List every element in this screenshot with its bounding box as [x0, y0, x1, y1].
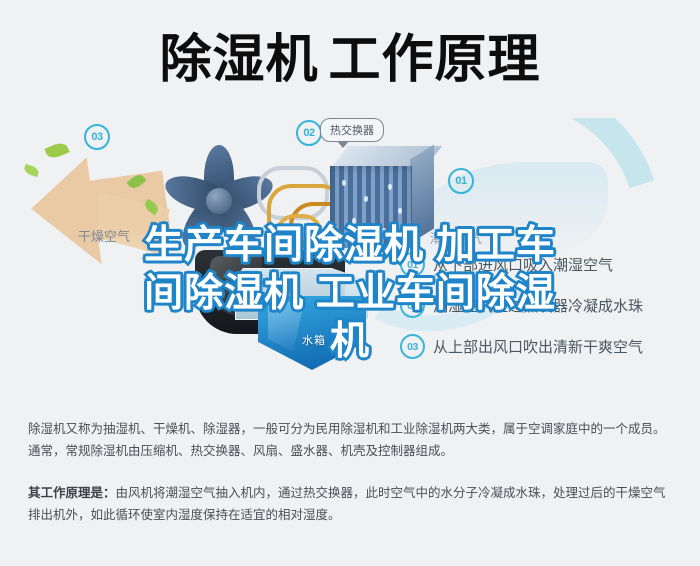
- legend-list: 01 从下部进风口吸入潮湿空气 02 潮湿空气经过蒸发器冷凝成水珠 03 从上部…: [400, 252, 690, 375]
- heat-exchanger-fins: [330, 166, 412, 248]
- heat-exchanger-icon: [330, 146, 438, 254]
- paragraph-1-line-1: 除湿机又称为抽湿机、干燥机、除湿器，一般可分为民用除湿机和工业除湿机两大类，属于…: [28, 422, 666, 436]
- heat-exchanger-callout: 热交换器: [320, 118, 384, 142]
- water-drop-icon: [342, 180, 346, 186]
- water-drop-icon: [352, 218, 356, 224]
- title-part-1: 除湿机: [159, 31, 318, 89]
- legend-text: 从下部进风口吸入潮湿空气: [433, 254, 613, 275]
- diagram-badge-03: 03: [84, 124, 110, 150]
- legend-number: 03: [400, 334, 425, 359]
- fan-hub: [206, 188, 232, 214]
- diagram-badge-02: 02: [296, 120, 322, 146]
- water-tank-label: 水箱: [302, 332, 326, 348]
- diagram-badge-01: 01: [448, 168, 474, 194]
- legend-number: 02: [400, 293, 425, 318]
- water-drop-icon: [382, 228, 386, 234]
- paragraph-1: 除湿机又称为抽湿机、干燥机、除湿器，一般可分为民用除湿机和工业除湿机两大类，属于…: [28, 418, 676, 462]
- body-copy: 除湿机又称为抽湿机、干燥机、除湿器，一般可分为民用除湿机和工业除湿机两大类，属于…: [28, 418, 676, 526]
- leaf-icon: [23, 164, 40, 177]
- legend-text: 从上部出风口吹出清新干爽空气: [433, 336, 643, 357]
- legend-text: 潮湿空气经过蒸发器冷凝成水珠: [433, 295, 643, 316]
- water-drop-icon: [364, 196, 368, 202]
- coil-pipe: [275, 214, 323, 254]
- title-band: 除湿机工作原理: [0, 0, 700, 120]
- paragraph-2: 其工作原理是：由风机将潮湿空气抽入机内，通过热交换器，此时空气中的水分子冷凝成水…: [28, 482, 676, 526]
- legend-item: 03 从上部出风口吹出清新干爽空气: [400, 334, 690, 359]
- legend-number: 01: [400, 252, 425, 277]
- water-drop-icon: [398, 208, 402, 214]
- paragraph-2-prefix: 其工作原理是：: [28, 486, 116, 500]
- dry-air-label: 干燥空气: [78, 226, 130, 245]
- infographic-page: 除湿机工作原理: [0, 0, 700, 566]
- paragraph-2-line-1: 由风机将潮湿空气抽入机内，通过热交换器，此时空气中的水分子冷凝成水珠，处理过后的…: [116, 486, 666, 500]
- page-title: 除湿机工作原理: [159, 34, 540, 86]
- leaf-icon: [44, 140, 69, 161]
- legend-item: 01 从下部进风口吸入潮湿空气: [400, 252, 690, 277]
- paragraph-1-line-2: 通常，常规除湿机由压缩机、热交换器、风扇、盛水器、机壳及控制器组成。: [28, 444, 453, 458]
- legend-item: 02 潮湿空气经过蒸发器冷凝成水珠: [400, 293, 690, 318]
- water-drop-icon: [388, 184, 392, 190]
- humid-air-label: 潮湿空气: [430, 228, 482, 247]
- title-part-2: 工作原理: [329, 31, 541, 89]
- paragraph-2-line-2: 排出机外，如此循环使室内湿度保持在适宜的相对湿度。: [28, 508, 341, 522]
